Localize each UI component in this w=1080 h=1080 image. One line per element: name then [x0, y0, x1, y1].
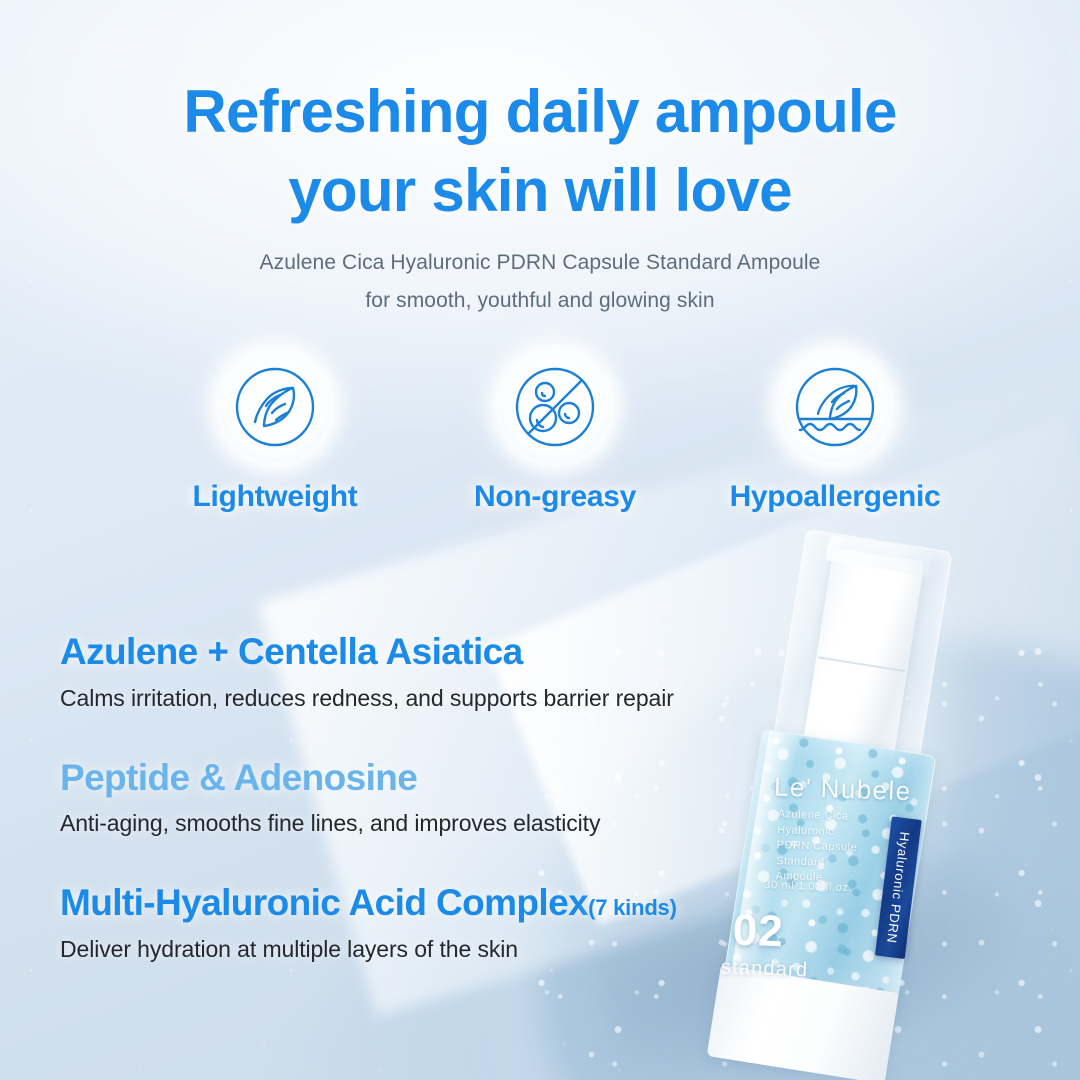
headline-line-1: Refreshing daily ampoule — [0, 72, 1080, 151]
benefit-description: Anti-aging, smooths fine lines, and impr… — [60, 810, 800, 837]
benefit-title: Multi-Hyaluronic Acid Complex(7 kinds) — [60, 881, 800, 925]
benefit-item: Peptide & Adenosine Anti-aging, smooths … — [60, 756, 800, 838]
subtitle-line-2: for smooth, youthful and glowing skin — [0, 282, 1080, 320]
no-oil-drops-icon — [500, 352, 610, 462]
page-subtitle: Azulene Cica Hyaluronic PDRN Capsule Sta… — [0, 244, 1080, 320]
subtitle-line-1: Azulene Cica Hyaluronic PDRN Capsule Sta… — [0, 244, 1080, 282]
feature-hypoallergenic: Hypoallergenic — [710, 352, 960, 514]
bottle-label-lines: Azulene Cica Hyaluronic PDRN Capsule Sta… — [775, 807, 858, 888]
bottle-side-tab-label: Hyaluronic PDRN — [884, 831, 913, 944]
feature-label: Hypoallergenic — [730, 480, 941, 514]
bottle-variant: standard — [721, 956, 809, 982]
benefit-title: Azulene + Centella Asiatica — [60, 630, 800, 674]
benefit-item: Multi-Hyaluronic Acid Complex(7 kinds) D… — [60, 881, 800, 963]
benefit-title: Peptide & Adenosine — [60, 756, 800, 800]
feature-lightweight: Lightweight — [150, 352, 400, 514]
bottle-number: 02 — [732, 905, 785, 957]
benefits-list: Azulene + Centella Asiatica Calms irrita… — [60, 630, 800, 963]
feature-label: Non-greasy — [474, 480, 636, 514]
feather-over-skin-icon — [780, 352, 890, 462]
benefit-title-text: Peptide & Adenosine — [60, 757, 417, 798]
product-promo-page: Refreshing daily ampoule your skin will … — [0, 0, 1080, 1080]
feature-non-greasy: Non-greasy — [430, 352, 680, 514]
headline-line-2: your skin will love — [0, 151, 1080, 230]
feather-icon — [220, 352, 330, 462]
page-headline: Refreshing daily ampoule your skin will … — [0, 72, 1080, 230]
benefit-item: Azulene + Centella Asiatica Calms irrita… — [60, 630, 800, 712]
feature-label: Lightweight — [193, 480, 358, 514]
feature-badges: Lightweight Non-greasy — [150, 352, 960, 514]
benefit-title-text: Multi-Hyaluronic Acid Complex — [60, 882, 588, 923]
benefit-title-text: Azulene + Centella Asiatica — [60, 631, 523, 672]
bottle-brand-name: Le' Nubele — [774, 771, 912, 807]
benefit-title-suffix: (7 kinds) — [588, 895, 677, 920]
benefit-description: Calms irritation, reduces redness, and s… — [60, 685, 800, 712]
benefit-description: Deliver hydration at multiple layers of … — [60, 936, 800, 963]
